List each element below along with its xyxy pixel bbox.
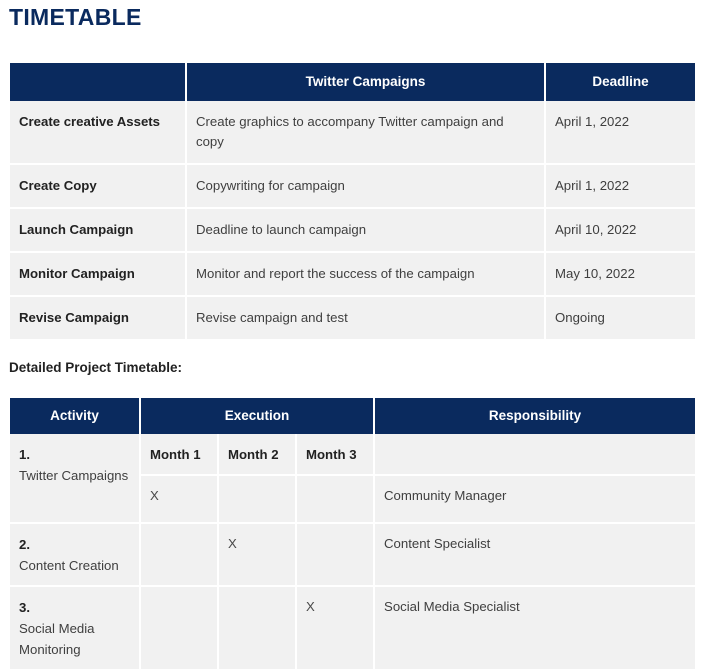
cell-deadline: May 10, 2022	[545, 252, 695, 296]
cell-deadline: Ongoing	[545, 296, 695, 339]
cell-activity: 2. Content Creation	[10, 523, 140, 586]
cell-responsibility: Community Manager	[374, 475, 695, 523]
activity-name: Twitter Campaigns	[19, 465, 130, 486]
cell-description: Deadline to launch campaign	[186, 208, 545, 252]
cell-task: Create Copy	[10, 164, 186, 208]
cell-responsibility-empty	[374, 434, 695, 475]
cell-month-2-mark	[218, 475, 296, 523]
column-header-task	[10, 63, 186, 101]
cell-month-1-label: Month 1	[140, 434, 218, 475]
timetable-header: Twitter Campaigns Deadline	[10, 63, 695, 101]
detailed-timetable-table-container: Activity Execution Responsibility 1. Twi…	[10, 398, 695, 671]
cell-month-2-label: Month 2	[218, 434, 296, 475]
cell-activity: 1. Twitter Campaigns	[10, 434, 140, 523]
cell-month-1-mark	[140, 586, 218, 670]
activity-name: Content Creation	[19, 555, 130, 576]
timetable-table: Twitter Campaigns Deadline Create creati…	[10, 63, 695, 339]
column-header-deadline: Deadline	[545, 63, 695, 101]
cell-task: Monitor Campaign	[10, 252, 186, 296]
cell-month-3-label: Month 3	[296, 434, 374, 475]
cell-month-1-mark	[140, 523, 218, 586]
detailed-timetable-header: Activity Execution Responsibility	[10, 398, 695, 434]
timetable-table-container: Twitter Campaigns Deadline Create creati…	[10, 63, 695, 339]
timetable-body: Create creative Assets Create graphics t…	[10, 101, 695, 339]
cell-description: Revise campaign and test	[186, 296, 545, 339]
activity-number: 2.	[19, 534, 130, 555]
table-row: Create Copy Copywriting for campaign Apr…	[10, 164, 695, 208]
cell-month-3-mark	[296, 475, 374, 523]
cell-task: Revise Campaign	[10, 296, 186, 339]
table-row: 1. Twitter Campaigns Month 1 Month 2 Mon…	[10, 434, 695, 475]
detailed-timetable-body: 1. Twitter Campaigns Month 1 Month 2 Mon…	[10, 434, 695, 670]
cell-task: Create creative Assets	[10, 101, 186, 164]
cell-description: Copywriting for campaign	[186, 164, 545, 208]
cell-month-3-mark: X	[296, 586, 374, 670]
column-header-responsibility: Responsibility	[374, 398, 695, 434]
table-header-row: Activity Execution Responsibility	[10, 398, 695, 434]
cell-month-2-mark	[218, 586, 296, 670]
page-title: TIMETABLE	[9, 2, 142, 32]
document-page: TIMETABLE Twitter Campaigns Deadline Cre…	[0, 0, 705, 654]
cell-responsibility: Social Media Specialist	[374, 586, 695, 670]
table-header-row: Twitter Campaigns Deadline	[10, 63, 695, 101]
table-row: Launch Campaign Deadline to launch campa…	[10, 208, 695, 252]
detailed-timetable-table: Activity Execution Responsibility 1. Twi…	[10, 398, 695, 671]
cell-month-1-mark: X	[140, 475, 218, 523]
cell-month-2-mark: X	[218, 523, 296, 586]
cell-description: Create graphics to accompany Twitter cam…	[186, 101, 545, 164]
column-header-description: Twitter Campaigns	[186, 63, 545, 101]
table-row: 3. Social Media Monitoring X Social Medi…	[10, 586, 695, 670]
cell-deadline: April 10, 2022	[545, 208, 695, 252]
cell-month-3-mark	[296, 523, 374, 586]
cell-description: Monitor and report the success of the ca…	[186, 252, 545, 296]
column-header-execution: Execution	[140, 398, 374, 434]
detailed-timetable-heading: Detailed Project Timetable:	[9, 359, 182, 377]
cell-responsibility: Content Specialist	[374, 523, 695, 586]
table-row: Create creative Assets Create graphics t…	[10, 101, 695, 164]
table-row: Revise Campaign Revise campaign and test…	[10, 296, 695, 339]
table-row: Monitor Campaign Monitor and report the …	[10, 252, 695, 296]
column-header-activity: Activity	[10, 398, 140, 434]
cell-deadline: April 1, 2022	[545, 164, 695, 208]
activity-number: 3.	[19, 597, 130, 618]
cell-deadline: April 1, 2022	[545, 101, 695, 164]
cell-task: Launch Campaign	[10, 208, 186, 252]
cell-activity: 3. Social Media Monitoring	[10, 586, 140, 670]
activity-number: 1.	[19, 444, 130, 465]
table-row: 2. Content Creation X Content Specialist	[10, 523, 695, 586]
